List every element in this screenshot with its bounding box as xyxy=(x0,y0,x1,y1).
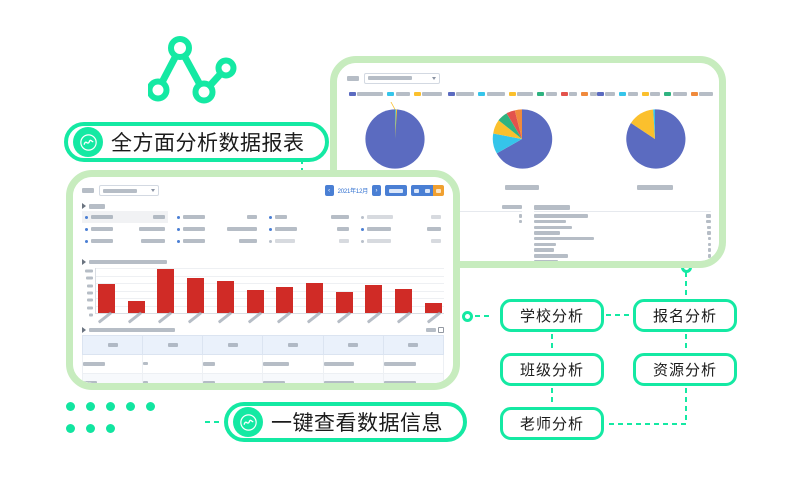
node-button-teacher-analysis[interactable]: 老师分析 xyxy=(500,407,604,440)
legend-item xyxy=(581,92,597,96)
list-item[interactable] xyxy=(534,220,711,224)
y-tick xyxy=(87,299,93,302)
table-cell xyxy=(143,374,203,384)
table-header-cell[interactable] xyxy=(83,336,143,355)
list-item[interactable] xyxy=(534,214,711,218)
table-cell xyxy=(263,374,323,384)
stat-item xyxy=(358,223,444,235)
table-header-cell[interactable] xyxy=(263,336,323,355)
overview-stats xyxy=(82,211,444,251)
y-tick xyxy=(85,270,93,273)
bar xyxy=(157,269,174,313)
seg-day[interactable] xyxy=(411,185,422,196)
region-label xyxy=(82,188,94,193)
pie-1-graphic xyxy=(343,102,448,176)
bar xyxy=(217,281,234,313)
analytics-dashboard-panel-bottom: ‹ 2021年12月 › xyxy=(66,170,460,390)
chart-title xyxy=(89,260,167,265)
table-cell xyxy=(323,374,383,384)
legend-item xyxy=(619,92,638,96)
y-tick xyxy=(87,284,93,287)
bar xyxy=(247,290,264,313)
feature-label-one-click-data: 一键查看数据信息 xyxy=(224,402,467,442)
seg-week[interactable] xyxy=(422,185,433,196)
legend-item xyxy=(664,92,687,96)
stat-item xyxy=(82,223,168,235)
y-tick xyxy=(89,313,93,316)
list-date xyxy=(502,205,522,209)
chevron-down-icon xyxy=(432,77,436,80)
table-cell xyxy=(383,355,443,374)
chart-title-row xyxy=(82,259,444,265)
pie-chart-subject xyxy=(448,89,597,199)
ranking-list-right xyxy=(534,205,711,257)
export-button[interactable] xyxy=(426,327,444,333)
connector-joint-right xyxy=(462,311,473,322)
list-item[interactable] xyxy=(534,260,711,261)
bar xyxy=(306,283,323,313)
y-tick xyxy=(87,291,93,294)
table-cell xyxy=(263,355,323,374)
table-cell xyxy=(83,355,143,374)
table-cell xyxy=(143,355,203,374)
chevron-down-icon xyxy=(151,189,155,192)
legend-item xyxy=(642,92,661,96)
pie-legend-1 xyxy=(343,89,448,98)
node-button-resource-analysis[interactable]: 资源分析 xyxy=(633,353,737,386)
line-chart-decoration-icon xyxy=(148,28,244,108)
feature-label-text: 一键查看数据信息 xyxy=(271,407,443,437)
bar-series xyxy=(98,268,442,313)
pie-3-graphic xyxy=(597,102,714,176)
table-header-cell[interactable] xyxy=(143,336,203,355)
feature-label-text: 全方面分析数据报表 xyxy=(111,127,305,157)
stat-item xyxy=(358,211,444,223)
seg-month[interactable] xyxy=(433,185,444,196)
table-title xyxy=(89,328,175,333)
list-item[interactable] xyxy=(534,226,711,230)
table-header-cell[interactable] xyxy=(203,336,263,355)
pie-2-title xyxy=(448,179,597,197)
bar xyxy=(276,287,293,313)
table-cell xyxy=(203,374,263,384)
enrollment-detail-table xyxy=(82,327,444,377)
y-tick xyxy=(86,277,93,280)
legend-item xyxy=(597,92,616,96)
bar xyxy=(187,278,204,313)
list-title-row xyxy=(534,205,711,212)
next-month-button[interactable]: › xyxy=(372,185,381,196)
table-header-row xyxy=(83,336,444,355)
node-button-class-analysis[interactable]: 班级分析 xyxy=(500,353,604,386)
legend-item xyxy=(691,92,714,96)
legend-item xyxy=(448,92,475,96)
region-select[interactable] xyxy=(364,73,440,84)
list-title xyxy=(534,205,570,210)
bar xyxy=(365,285,382,314)
stat-item xyxy=(174,211,260,223)
region-select[interactable] xyxy=(99,185,159,196)
table-cell xyxy=(203,355,263,374)
expand-arrow-icon[interactable] xyxy=(82,203,86,209)
node-button-school-analysis[interactable]: 学校分析 xyxy=(500,299,604,332)
table-cell xyxy=(323,355,383,374)
legend-item xyxy=(509,92,534,96)
overview-section-title xyxy=(82,203,105,209)
table-cell xyxy=(383,374,443,384)
stat-item xyxy=(174,223,260,235)
node-button-enrollment-analysis[interactable]: 报名分析 xyxy=(633,299,737,332)
data-table xyxy=(82,335,444,383)
date-display: 2021年12月 xyxy=(338,186,368,195)
list-item[interactable] xyxy=(534,254,711,258)
bottom-panel-toolbar: ‹ 2021年12月 › xyxy=(82,184,444,197)
pie-legend-2 xyxy=(448,89,597,98)
legend-item xyxy=(537,92,557,96)
y-tick xyxy=(87,306,93,309)
table-row[interactable] xyxy=(83,374,444,384)
expand-arrow-icon[interactable] xyxy=(82,327,86,333)
legend-item xyxy=(387,92,410,96)
export-icon xyxy=(438,327,444,333)
monthly-enrollment-bar-chart xyxy=(82,259,444,321)
legend-item xyxy=(561,92,578,96)
period-segmented-control[interactable] xyxy=(411,185,444,196)
legend-item xyxy=(478,92,505,96)
wave-badge-icon xyxy=(73,127,103,157)
top-panel-toolbar xyxy=(347,71,709,85)
prev-month-button[interactable]: ‹ xyxy=(325,185,334,196)
pie-legend-3 xyxy=(597,89,714,98)
bar xyxy=(336,292,353,313)
list-item[interactable] xyxy=(534,231,711,235)
list-item[interactable] xyxy=(534,237,711,241)
chart-plot-area xyxy=(95,268,444,314)
stat-item xyxy=(82,211,168,223)
y-axis-ticks xyxy=(82,268,95,315)
x-axis-ticks xyxy=(97,316,442,319)
legend-item xyxy=(349,92,384,96)
table-title-row xyxy=(82,327,444,333)
wave-badge-icon xyxy=(233,407,263,437)
bar xyxy=(98,284,115,313)
expand-arrow-icon[interactable] xyxy=(82,259,86,265)
feature-label-analysis-report: 全方面分析数据报表 xyxy=(64,122,329,162)
query-button[interactable] xyxy=(385,185,407,196)
pie-2-graphic xyxy=(448,102,597,176)
bar xyxy=(395,289,412,313)
table-header-cell[interactable] xyxy=(323,336,383,355)
stat-item xyxy=(266,223,352,235)
stat-item xyxy=(174,235,260,247)
legend-item xyxy=(414,92,443,96)
stat-item xyxy=(82,235,168,247)
poster-canvas: ‹ 2021年12月 › xyxy=(0,0,800,500)
list-item[interactable] xyxy=(534,248,711,252)
region-label xyxy=(347,76,359,81)
pie-3-title xyxy=(597,179,714,197)
dot-grid-decoration xyxy=(66,402,158,450)
stat-item xyxy=(266,235,352,247)
stat-item xyxy=(358,235,444,247)
bar xyxy=(128,301,145,313)
list-item[interactable] xyxy=(534,243,711,247)
stat-item xyxy=(266,211,352,223)
pie-chart-grade xyxy=(597,89,714,199)
table-cell xyxy=(83,374,143,384)
table-row[interactable] xyxy=(83,355,444,374)
table-header-cell[interactable] xyxy=(383,336,443,355)
